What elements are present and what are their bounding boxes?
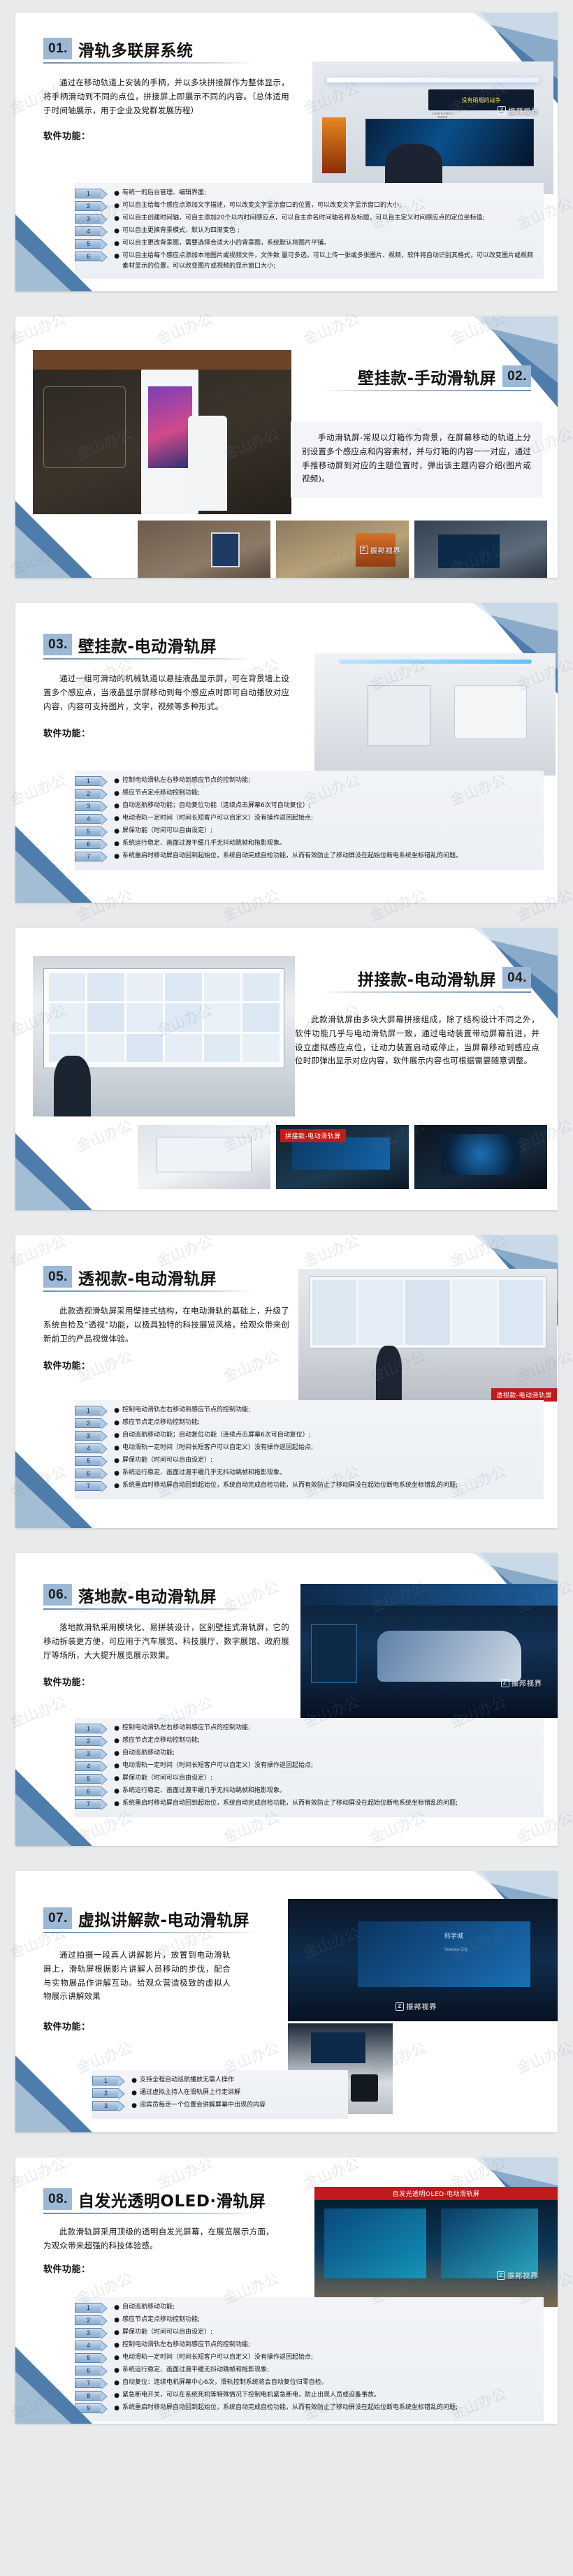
section-photo [414, 521, 547, 578]
brand-mark-icon: Z [360, 546, 368, 554]
bullet-icon: ● [111, 2340, 122, 2351]
features-list: 1●控制电动滑轨左右移动到感应节点的控制功能; 2●感应节点定点移动控制功能; … [75, 1400, 544, 1499]
bullet-icon: ● [111, 851, 122, 862]
feature-index: 8 [75, 2391, 101, 2401]
feature-item: 7●系统重启时移动屏自动回到起始位，系统自动完成自检功能，从而有效防止了移动屏没… [75, 1480, 537, 1492]
feature-index: 2 [75, 2315, 101, 2325]
corner-decoration-top-right-icon [397, 316, 558, 407]
section-paragraph: 落地款滑轨采用模块化、易拼装设计，区别壁挂式滑轨屏，它的移动拆装更方便，可应用于… [43, 1621, 289, 1662]
feature-index: 7 [75, 2378, 101, 2388]
slide-07: 07. 虚拟讲解款-电动滑轨屏 通过拍摄一段真人讲解影片，放置到电动滑轨屏上，滑… [0, 1858, 573, 2145]
feature-index: 3 [75, 801, 101, 811]
feature-item: 1●控制电动滑轨左右移动到感应节点的控制功能; [75, 1723, 537, 1734]
feature-text: 紧急断电开关，可以在系统死机等特殊情况下控制电机紧急断电，防止出现人员或设备事故… [122, 2390, 537, 2401]
bullet-icon: ● [111, 1480, 122, 1492]
brand-watermark-text: 振邦视界 [507, 2270, 538, 2280]
feature-index: 1 [75, 1406, 101, 1416]
feature-index: 5 [75, 239, 101, 249]
feature-index: 1 [92, 2076, 119, 2086]
feature-item: 7●系统重启时移动屏自动回到起始位，系统自动完成自检功能，从而有效防止了移动屏没… [75, 851, 537, 862]
feature-text: 系统重启时移动屏自动回到起始位，系统自动完成自检功能，从而有效防止了移动屏没在起… [122, 1480, 537, 1491]
section-title-07: 07. 虚拟讲解款-电动滑轨屏 [43, 1907, 259, 1933]
feature-index: 5 [75, 1456, 101, 1466]
bullet-icon: ● [111, 1761, 122, 1772]
section-number: 03. [43, 634, 72, 655]
feature-index: 6 [75, 252, 101, 261]
feature-text: 系统重启时移动屏自动回到起始位，系统自动完成自检功能，从而有效防止了移动屏没在起… [122, 1798, 537, 1809]
feature-index: 4 [75, 2341, 101, 2350]
feature-item: 4●电动滑轨一定时间（时间长短客户可以自定义）没有操作返回起始点; [75, 1761, 537, 1772]
feature-item: 5●屏保功能（时间可以自由设定）; [75, 826, 537, 837]
bullet-icon: ● [111, 813, 122, 824]
feature-index: 4 [75, 814, 101, 824]
feature-item: 4●控制电动滑轨左右移动到感应节点的控制功能; [75, 2340, 537, 2351]
feature-item: 5●屏保功能（时间可以自由设定）; [75, 1455, 537, 1467]
feature-text: 自动巡航移动功能；自动复位功能（连续点击屏幕6次可自动复位）; [122, 1430, 537, 1441]
bullet-icon: ● [111, 2365, 122, 2376]
feature-index: 5 [75, 827, 101, 836]
feature-item: 2●感应节点定点移动控制功能; [75, 788, 537, 799]
slide-deck: 01. 滑轨多联屏系统 通过在移动轨道上安装的手柄，并以多块拼接屏作为整体显示，… [0, 0, 573, 2436]
bullet-icon: ● [111, 1786, 122, 1797]
section-title-text: 拼接款-电动滑轨屏 [358, 972, 496, 989]
section-photo: 自发光透明OLED·电动滑轨屏 Z 振邦视界 [314, 2187, 558, 2307]
feature-item: 3●自动巡航移动功能；自动复位功能（连续点击屏幕6次可自动复位）; [75, 1430, 537, 1441]
features-list: 1●有统一的后台管理、编辑界面; 2●可以自主给每个感应点添加文字描述，可以改变… [75, 183, 544, 279]
feature-item: 3●可以自主创建时间轴，可自主添加20个以内时间感应点，可以自主命名时间轴名称及… [75, 213, 537, 224]
feature-text: 可以自主更换背景模式，默认为四渐变色 ; [122, 226, 537, 236]
slide-02: 02. 壁挂款-手动滑轨屏 手动滑轨屏-常规以灯箱作为背景，在屏幕移动的轨道上分… [0, 304, 573, 590]
feature-item: 4●电动滑轨一定时间（时间长短客户可以自定义）没有操作返回起始点; [75, 1443, 537, 1454]
feature-text: 系统运行稳定、画面过渡平缓几乎无抖动跳帧和拖影现象。 [122, 1468, 537, 1478]
feature-item: 3●迎宾员每走一个位置会讲解屏幕中出现的内容 [92, 2100, 341, 2111]
section-photo [414, 1125, 547, 1189]
slide-03: 03. 壁挂款-电动滑轨屏 通过一组可滑动的机械轨道以悬挂液晶显示屏，可在背景墙… [0, 590, 573, 915]
bullet-icon: ● [111, 1455, 122, 1467]
section-title-text: 壁挂款-电动滑轨屏 [78, 639, 217, 655]
brand-mark-icon: Z [497, 2271, 505, 2280]
section-title-text: 壁挂款-手动滑轨屏 [358, 370, 496, 387]
feature-item: 1●支持全程自动巡航播放无需人操作 [92, 2075, 341, 2086]
feature-index: 3 [92, 2101, 119, 2111]
feature-text: 屏保功能（时间可以自由设定）; [122, 1455, 537, 1466]
brand-mark-icon: Z [501, 1679, 509, 1687]
feature-item: 2●感应节点定点移动控制功能; [75, 1735, 537, 1747]
feature-item: 6●系统运行稳定、画面过渡平缓几乎无抖动跳帧和拖影现象。 [75, 838, 537, 850]
bullet-icon: ● [111, 838, 122, 850]
bullet-icon: ● [111, 201, 122, 212]
section-title-text: 自发光透明OLED·滑轨屏 [78, 2193, 266, 2210]
feature-text: 系统重启时移动屏自动回到起始位，系统自动完成自检功能，从而有效防止了移动屏没在起… [122, 2403, 537, 2413]
bullet-icon: ● [111, 1798, 122, 1810]
bullet-icon: ● [129, 2088, 140, 2099]
brand-watermark: Z 振邦视界 [501, 1678, 542, 1688]
feature-index: 3 [75, 1749, 101, 1759]
feature-text: 可以自主给每个感应点添加本地图片或视频文件，文件数 量可多选，可以上传一张或多张… [122, 251, 537, 271]
section-paragraph: 通过拍摄一段真人讲解影片，放置到电动滑轨屏上，滑轨屏根据影片讲解人员移动的步伐，… [43, 1949, 231, 2004]
feature-item: 6●系统运行稳定、画面过渡平缓无抖动跳帧和拖影现象; [75, 2365, 537, 2376]
software-heading: 软件功能： [43, 2262, 309, 2275]
feature-index: 1 [75, 189, 101, 198]
feature-index: 3 [75, 214, 101, 224]
feature-item: 9●系统重启时移动屏自动回到起始位，系统自动完成自检功能，从而有效防止了移动屏没… [75, 2403, 537, 2414]
feature-text: 感应节点定点移动控制功能; [122, 788, 537, 799]
feature-index: 7 [75, 1799, 101, 1809]
section-title-text: 虚拟讲解款-电动滑轨屏 [78, 1912, 249, 1929]
feature-text: 系统运行稳定、画面过渡平缓几乎无抖动跳帧和拖影现象。 [122, 838, 537, 849]
section-title-05: 05. 透视款-电动滑轨屏 [43, 1266, 253, 1292]
feature-index: 6 [75, 2366, 101, 2375]
section-photo: Z 振邦视界 [300, 1584, 558, 1718]
section-title-02: 02. 壁挂款-手动滑轨屏 [321, 365, 531, 391]
feature-text: 支持全程自动巡航播放无需人操作 [140, 2075, 341, 2086]
section-title-04: 04. 拼接款-电动滑轨屏 [321, 967, 531, 993]
feature-item: 4●可以自主更换背景模式，默认为四渐变色 ; [75, 226, 537, 237]
bullet-icon: ● [111, 1418, 122, 1429]
feature-item: 7●系统重启时移动屏自动回到起始位，系统自动完成自检功能，从而有效防止了移动屏没… [75, 1798, 537, 1810]
section-number: 05. [43, 1266, 72, 1288]
feature-index: 4 [75, 1443, 101, 1453]
feature-index: 6 [75, 839, 101, 849]
feature-item: 5●电动滑轨一定时间（时间长短客户可以自定义）没有操作返回起始点; [75, 2352, 537, 2364]
feature-item: 1●有统一的后台管理、编辑界面; [75, 188, 537, 199]
section-photo [138, 521, 270, 578]
feature-text: 控制电动滑轨左右移动到感应节点的控制功能; [122, 1723, 537, 1733]
brand-watermark-text: 振邦视界 [406, 2001, 437, 2011]
bullet-icon: ● [111, 2378, 122, 2389]
corner-decoration-bottom-left-icon [15, 1126, 155, 1210]
feature-text: 可以自主给每个感应点添加文字描述，可以改变文字显示窗口的位置，可以改变文字显示窗… [122, 201, 537, 211]
feature-text: 电动滑轨一定时间（时间长短客户可以自定义）没有操作返回起始点; [122, 813, 537, 824]
brand-watermark: Z 振邦视界 [396, 2001, 437, 2011]
slide-01: 01. 滑轨多联屏系统 通过在移动轨道上安装的手柄，并以多块拼接屏作为整体显示，… [0, 0, 573, 304]
feature-item: 1●控制电动滑轨左右移动到感应节点的控制功能; [75, 1405, 537, 1416]
section-title-03: 03. 壁挂款-电动滑轨屏 [43, 634, 253, 660]
bullet-icon: ● [111, 226, 122, 237]
bullet-icon: ● [111, 1748, 122, 1759]
bullet-icon: ● [111, 1405, 122, 1416]
feature-text: 感应节点定点移动控制功能; [122, 2315, 537, 2325]
feature-text: 自动巡航移动功能; [122, 2302, 537, 2313]
bullet-icon: ● [111, 2390, 122, 2401]
feature-index: 1 [75, 776, 101, 786]
section-paragraph: 通过一组可滑动的机械轨道以悬挂液晶显示屏，可在背景墙上设置多个感应点，当液晶显示… [43, 672, 289, 713]
feature-index: 3 [75, 2328, 101, 2338]
feature-index: 2 [75, 1418, 101, 1428]
section-photo [33, 956, 295, 1116]
bullet-icon: ● [111, 2352, 122, 2364]
feature-text: 系统重启时移动屏自动回到起始位，系统自动完成自检功能，从而有效防止了移动屏没在起… [122, 851, 537, 861]
section-paragraph: 此款滑轨屏由多块大屏幕拼接组成，除了结构设计不同之外，软件功能几乎与电动滑轨屏一… [295, 1013, 539, 1068]
bullet-icon: ● [111, 801, 122, 812]
feature-item: 5●屏保功能（时间可以自由设定）; [75, 1773, 537, 1784]
section-number: 04. [502, 967, 531, 989]
feature-text: 电动滑轨一定时间（时间长短客户可以自定义）没有操作返回起始点; [122, 1443, 537, 1453]
feature-index: 3 [75, 1431, 101, 1441]
photo-caption: 拼接款-电动滑轨屏 [280, 1129, 346, 1142]
feature-index: 4 [75, 1761, 101, 1771]
photo-caption: 自发光透明OLED·电动滑轨屏 [314, 2187, 558, 2200]
brand-watermark: Z 振邦视界 [360, 545, 401, 555]
feature-index: 7 [75, 1481, 101, 1491]
section-photo: 科学城 Science City Z 振邦视界 [288, 1899, 558, 2021]
brand-watermark-text: 振邦视界 [512, 1678, 542, 1688]
feature-text: 有统一的后台管理、编辑界面; [122, 188, 537, 198]
bullet-icon: ● [111, 788, 122, 799]
bullet-icon: ● [111, 2302, 122, 2313]
bullet-icon: ● [111, 213, 122, 224]
section-title-08: 08. 自发光透明OLED·滑轨屏 [43, 2188, 266, 2214]
feature-index: 1 [75, 1724, 101, 1733]
bullet-icon: ● [111, 188, 122, 199]
bullet-icon: ● [111, 238, 122, 249]
feature-index: 2 [92, 2088, 119, 2098]
section-title-text: 透视款-电动滑轨屏 [78, 1271, 217, 1288]
section-photo: 拼接款-电动滑轨屏 [276, 1125, 409, 1189]
feature-text: 屏保功能（时间可以自由设定）; [122, 826, 537, 836]
feature-item: 2●通过虚拟主持人在滑轨屏上行走讲解 [92, 2088, 341, 2099]
feature-text: 屏保功能（时间可以自由设定）; [122, 1773, 537, 1784]
brand-watermark-text: 振邦视界 [370, 545, 401, 555]
feature-text: 系统运行稳定、画面过渡平缓几乎无抖动跳帧和拖影现象。 [122, 1786, 537, 1796]
feature-item: 2●感应节点定点移动控制功能; [75, 1418, 537, 1429]
feature-item: 5●可以自主更改背景图，需要选择合适大小的背景图，系统默认将图片平铺。 [75, 238, 537, 249]
feature-index: 7 [75, 852, 101, 861]
feature-index: 6 [75, 1469, 101, 1478]
feature-index: 2 [75, 789, 101, 799]
feature-text: 可以自主更改背景图，需要选择合适大小的背景图，系统默认将图片平铺。 [122, 238, 537, 249]
section-photo [138, 1125, 270, 1189]
bullet-icon: ● [111, 1468, 122, 1479]
feature-index: 2 [75, 201, 101, 211]
features-list: 1●自动巡航移动功能; 2●感应节点定点移动控制功能; 3●屏保功能（时间可以自… [75, 2297, 544, 2422]
section-photo: 透视款-电动滑轨屏 [298, 1269, 557, 1402]
section-paragraph: 此款滑轨屏采用顶级的透明自发光屏幕，在展览展示方面，为观众带来超强的科技体验感。 [43, 2225, 274, 2253]
feature-index: 5 [75, 2353, 101, 2363]
section-title-text: 落地款-电动滑轨屏 [78, 1589, 217, 1606]
bullet-icon: ● [129, 2100, 140, 2111]
slide-08: 08. 自发光透明OLED·滑轨屏 此款滑轨屏采用顶级的透明自发光屏幕，在展览展… [0, 2145, 573, 2436]
feature-text: 感应节点定点移动控制功能; [122, 1418, 537, 1428]
bullet-icon: ● [111, 2315, 122, 2326]
feature-index: 1 [75, 2303, 101, 2313]
brand-mark-icon: Z [396, 2002, 404, 2011]
bullet-icon: ● [111, 1723, 122, 1734]
feature-text: 控制电动滑轨左右移动到感应节点的控制功能; [122, 1405, 537, 1416]
feature-item: 1●控制电动滑轨左右移动到感应节点的控制功能; [75, 776, 537, 787]
feature-item: 6●系统运行稳定、画面过渡平缓几乎无抖动跳帧和拖影现象。 [75, 1468, 537, 1479]
feature-text: 通过虚拟主持人在滑轨屏上行走讲解 [140, 2088, 341, 2098]
feature-text: 迎宾员每走一个位置会讲解屏幕中出现的内容 [140, 2100, 341, 2111]
feature-text: 电动滑轨一定时间（时间长短客户可以自定义）没有操作返回起始点; [122, 1761, 537, 1771]
section-number: 06. [43, 1584, 72, 1606]
bullet-icon: ● [111, 1735, 122, 1747]
software-heading: 软件功能： [43, 726, 309, 739]
section-number: 08. [43, 2188, 72, 2210]
feature-item: 3●自动巡航移动功能; [75, 1748, 537, 1759]
feature-item: 3●屏保功能（时间可以自由设定）; [75, 2327, 537, 2338]
feature-text: 屏保功能（时间可以自由设定）; [122, 2327, 537, 2338]
bullet-icon: ● [111, 251, 122, 262]
bullet-icon: ● [111, 2403, 122, 2414]
bullet-icon: ● [111, 1773, 122, 1784]
feature-item: 3●自动巡航移动功能；自动复位功能（连续点击屏幕6次可自动复位）; [75, 801, 537, 812]
software-heading: 软件功能： [43, 2019, 274, 2032]
feature-item: 1●自动巡航移动功能; [75, 2302, 537, 2313]
section-paragraph: 通过在移动轨道上安装的手柄，并以多块拼接屏作为整体显示，将手柄滑动到不同的点位，… [43, 76, 289, 117]
slide-05: 05. 透视款-电动滑轨屏 此款透视滑轨屏采用壁挂式结构，在电动滑轨的基础上，升… [0, 1223, 573, 1541]
features-list: 1●控制电动滑轨左右移动到感应节点的控制功能; 2●感应节点定点移动控制功能; … [75, 1718, 544, 1817]
feature-index: 4 [75, 226, 101, 236]
feature-text: 控制电动滑轨左右移动到感应节点的控制功能; [122, 776, 537, 786]
feature-text: 系统运行稳定、画面过渡平缓无抖动跳帧和拖影现象; [122, 2365, 537, 2375]
section-photo: 没有硝烟的战争 A WAR WITHOUT SMOKE Z 振邦视界 [312, 61, 553, 194]
feature-text: 感应节点定点移动控制功能; [122, 1735, 537, 1746]
feature-index: 2 [75, 1736, 101, 1746]
feature-index: 9 [75, 2403, 101, 2413]
feature-item: 4●电动滑轨一定时间（时间长短客户可以自定义）没有操作返回起始点; [75, 813, 537, 824]
section-paragraph: 手动滑轨屏-常规以灯箱作为背景，在屏幕移动的轨道上分别设置多个感应点和内容素材，… [302, 431, 531, 486]
feature-item: 7●自动复位：连续电机屏幕中心6次，滑轨控制系统将会自动复位归零自检。 [75, 2378, 537, 2389]
feature-item: 6●可以自主给每个感应点添加本地图片或视频文件，文件数 量可多选，可以上传一张或… [75, 251, 537, 271]
brand-watermark: Z 振邦视界 [497, 2270, 538, 2280]
slide-04: 04. 拼接款-电动滑轨屏 此款滑轨屏由多块大屏幕拼接组成，除了结构设计不同之外… [0, 915, 573, 1223]
software-heading: 软件功能： [43, 129, 309, 142]
brand-watermark: Z 振邦视界 [498, 105, 539, 116]
features-list: 1●控制电动滑轨左右移动到感应节点的控制功能; 2●感应节点定点移动控制功能; … [75, 771, 544, 870]
feature-item: 2●感应节点定点移动控制功能; [75, 2315, 537, 2326]
feature-text: 自动复位：连续电机屏幕中心6次，滑轨控制系统将会自动复位归零自检。 [122, 2378, 537, 2388]
feature-index: 6 [75, 1787, 101, 1796]
features-list: 1●支持全程自动巡航播放无需人操作 2●通过虚拟主持人在滑轨屏上行走讲解 3●迎… [92, 2070, 348, 2119]
software-heading: 软件功能： [43, 1675, 309, 1688]
brand-watermark-text: 振邦视界 [508, 105, 539, 116]
section-title-text: 滑轨多联屏系统 [78, 43, 194, 59]
section-photo [314, 653, 556, 776]
feature-text: 控制电动滑轨左右移动到感应节点的控制功能; [122, 2340, 537, 2350]
software-heading: 软件功能： [43, 1358, 309, 1371]
feature-item: 2●可以自主给每个感应点添加文字描述，可以改变文字显示窗口的位置，可以改变文字显… [75, 201, 537, 212]
section-number: 02. [502, 365, 531, 387]
feature-item: 6●系统运行稳定、画面过渡平缓几乎无抖动跳帧和拖影现象。 [75, 1786, 537, 1797]
bullet-icon: ● [129, 2075, 140, 2086]
feature-text: 可以自主创建时间轴，可自主添加20个以内时间感应点，可以自主命名时间轴名称及标题… [122, 213, 537, 224]
feature-text: 自动巡航移动功能; [122, 1748, 537, 1759]
section-number: 01. [43, 38, 72, 59]
section-photo: Z 振邦视界 [276, 521, 409, 578]
feature-text: 自动巡航移动功能；自动复位功能（连续点击屏幕6次可自动复位）; [122, 801, 537, 811]
bullet-icon: ● [111, 1443, 122, 1454]
section-number: 07. [43, 1907, 72, 1929]
feature-index: 5 [75, 1774, 101, 1784]
section-title-01: 01. 滑轨多联屏系统 [43, 38, 253, 64]
section-photo [33, 350, 291, 514]
section-paragraph: 此款透视滑轨屏采用壁挂式结构，在电动滑轨的基础上，升级了系统自检及“透视”功能，… [43, 1304, 289, 1346]
slide-06: 06. 落地款-电动滑轨屏 落地款滑轨采用模块化、易拼装设计，区别壁挂式滑轨屏，… [0, 1541, 573, 1858]
brand-mark-icon: Z [498, 106, 506, 115]
bullet-icon: ● [111, 1430, 122, 1441]
feature-item: 8●紧急断电开关，可以在系统死机等特殊情况下控制电机紧急断电，防止出现人员或设备… [75, 2390, 537, 2401]
feature-text: 电动滑轨一定时间（时间长短客户可以自定义）没有操作返回起始点; [122, 2352, 537, 2363]
section-title-06: 06. 落地款-电动滑轨屏 [43, 1584, 253, 1610]
bullet-icon: ● [111, 776, 122, 787]
bullet-icon: ● [111, 826, 122, 837]
bullet-icon: ● [111, 2327, 122, 2338]
